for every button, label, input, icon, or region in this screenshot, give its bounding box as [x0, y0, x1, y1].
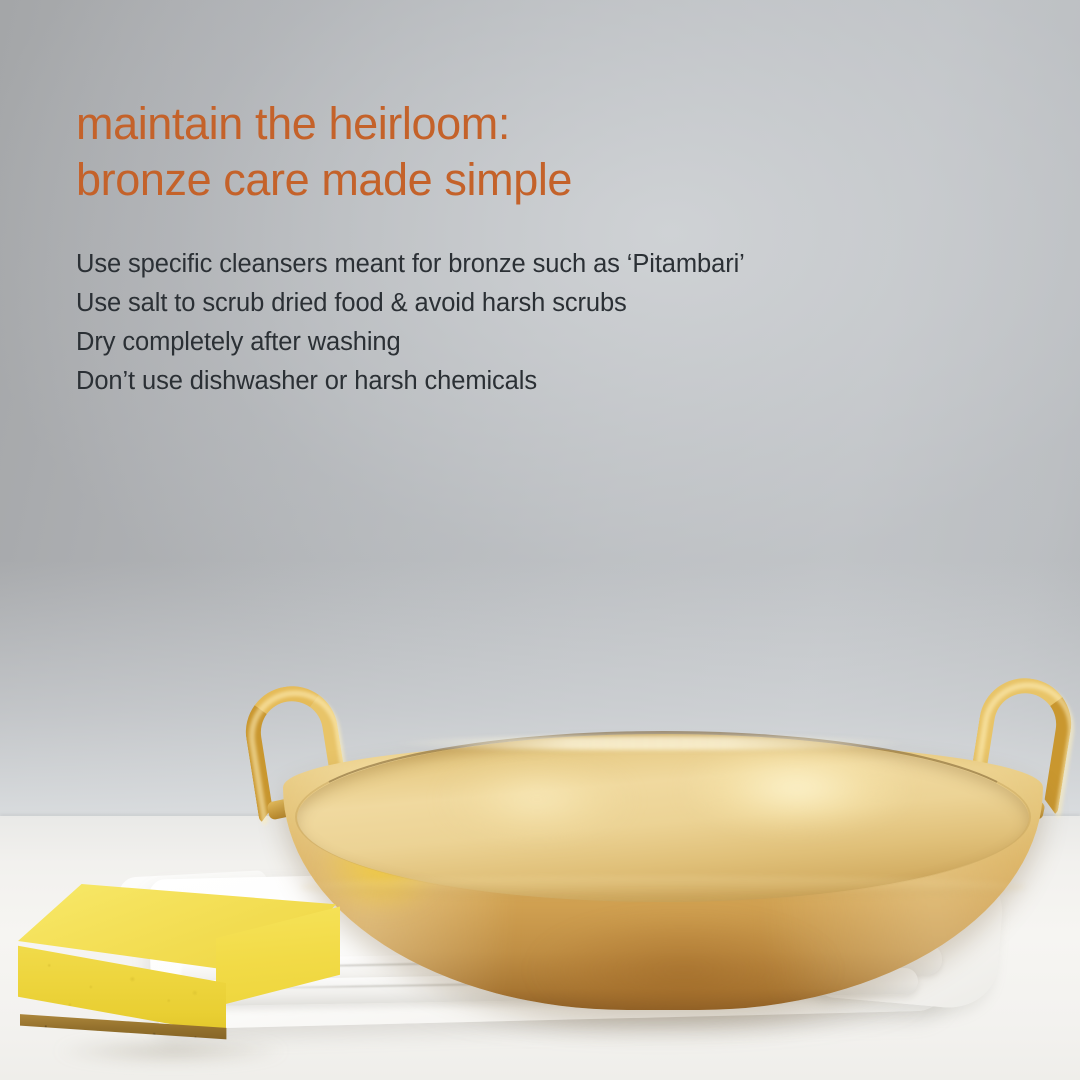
cleaning-sponge [10, 884, 360, 1064]
care-instruction-2: Use salt to scrub dried food & avoid har… [76, 284, 976, 323]
kadai-base-warm-shading [493, 892, 873, 1010]
kadai-rim-highlight [390, 736, 910, 750]
headline-line-2: bronze care made simple [76, 152, 976, 208]
kadai-lower-band [300, 876, 1026, 898]
sponge-contact-shadow [26, 1034, 316, 1068]
care-instruction-3: Dry completely after washing [76, 323, 976, 362]
care-text-block: maintain the heirloom: bronze care made … [76, 96, 976, 401]
page-title: maintain the heirloom: bronze care made … [76, 96, 976, 208]
headline-line-1: maintain the heirloom: [76, 96, 976, 152]
care-instruction-4: Don’t use dishwasher or harsh chemicals [76, 362, 976, 401]
product-care-graphic: maintain the heirloom: bronze care made … [0, 0, 1080, 1080]
care-instruction-1: Use specific cleansers meant for bronze … [76, 245, 976, 284]
care-instruction-list: Use specific cleansers meant for bronze … [76, 245, 976, 401]
